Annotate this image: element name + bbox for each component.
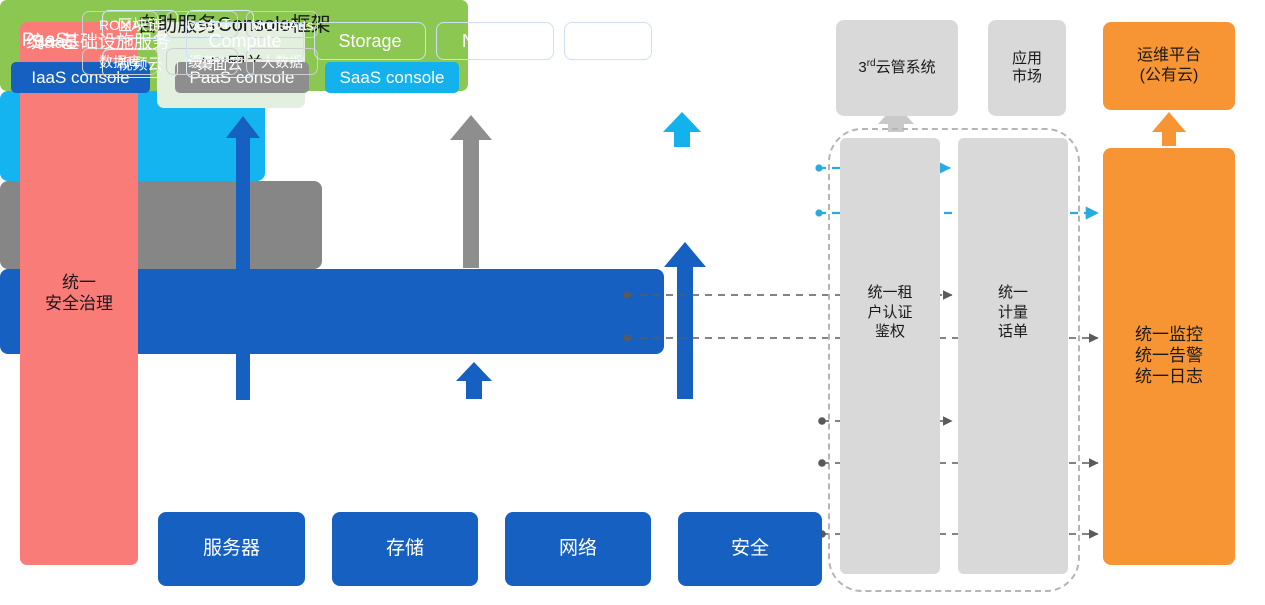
- arrow-paas-to-console: [450, 115, 492, 268]
- app-market-line-2: 市场: [1012, 68, 1042, 86]
- arrow-saas-to-saas-console: [663, 112, 701, 147]
- ops-monitor-box: 统一监控 统一告警 统一日志: [1103, 148, 1235, 565]
- infra-item-cce[interactable]: CCE: [564, 22, 652, 60]
- arrow-infra-to-saas: [664, 242, 706, 399]
- app-market-line-1: 应用: [1012, 50, 1042, 68]
- ops-platform-line-2: (公有云): [1137, 66, 1201, 86]
- ops-monitor-line-2: 统一告警: [1135, 346, 1203, 367]
- ops-platform-line-1: 运维平台: [1137, 46, 1201, 66]
- arrow-infra-to-paas: [456, 362, 492, 399]
- third-party-suffix: rd: [867, 58, 876, 69]
- auth-column: [840, 138, 940, 574]
- ops-monitor-line-1: 统一监控: [1135, 325, 1203, 346]
- security-line-1: 统一: [45, 273, 113, 294]
- infra-item-network[interactable]: Network: [436, 22, 554, 60]
- infra-item-storage[interactable]: Storage: [314, 22, 426, 60]
- third-party-cloud-mgmt-box: 3rd云管系统: [836, 20, 958, 116]
- ops-monitor-line-3: 统一日志: [1135, 367, 1203, 388]
- auth-line-1: 统一租: [840, 283, 940, 303]
- billing-line-2: 计量: [958, 303, 1068, 323]
- hardware-item-network[interactable]: 网络: [505, 512, 651, 586]
- unified-infrastructure-label: 统一基础设施服务: [12, 28, 184, 54]
- billing-line-1: 统一: [958, 283, 1068, 303]
- billing-column-label: 统一 计量 话单: [958, 283, 1068, 342]
- hardware-item-storage[interactable]: 存储: [332, 512, 478, 586]
- saas-console-button[interactable]: SaaS console: [325, 62, 459, 93]
- third-party-label: 3rd云管系统: [858, 58, 935, 77]
- app-market-box: 应用 市场: [988, 20, 1066, 116]
- third-party-prefix: 3: [858, 59, 866, 76]
- security-line-2: 安全治理: [45, 294, 113, 315]
- unified-security-governance: 统一 安全治理: [20, 22, 138, 565]
- ops-platform-box: 运维平台 (公有云): [1103, 22, 1235, 110]
- auth-line-3: 鉴权: [840, 322, 940, 342]
- auth-column-label: 统一租 户认证 鉴权: [840, 283, 940, 342]
- billing-column: [958, 138, 1068, 574]
- hardware-item-security[interactable]: 安全: [678, 512, 822, 586]
- auth-line-2: 户认证: [840, 303, 940, 323]
- hardware-item-server[interactable]: 服务器: [158, 512, 305, 586]
- third-party-text: 云管系统: [876, 59, 936, 76]
- arrow-monitor-to-ops-platform: [1152, 112, 1186, 146]
- infra-item-compute[interactable]: Compute: [186, 22, 304, 60]
- architecture-diagram: 统一租 户认证 鉴权 统一 计量 话单 统一 安全治理 API网关 自助服务Co…: [0, 0, 1265, 605]
- billing-line-3: 话单: [958, 322, 1068, 342]
